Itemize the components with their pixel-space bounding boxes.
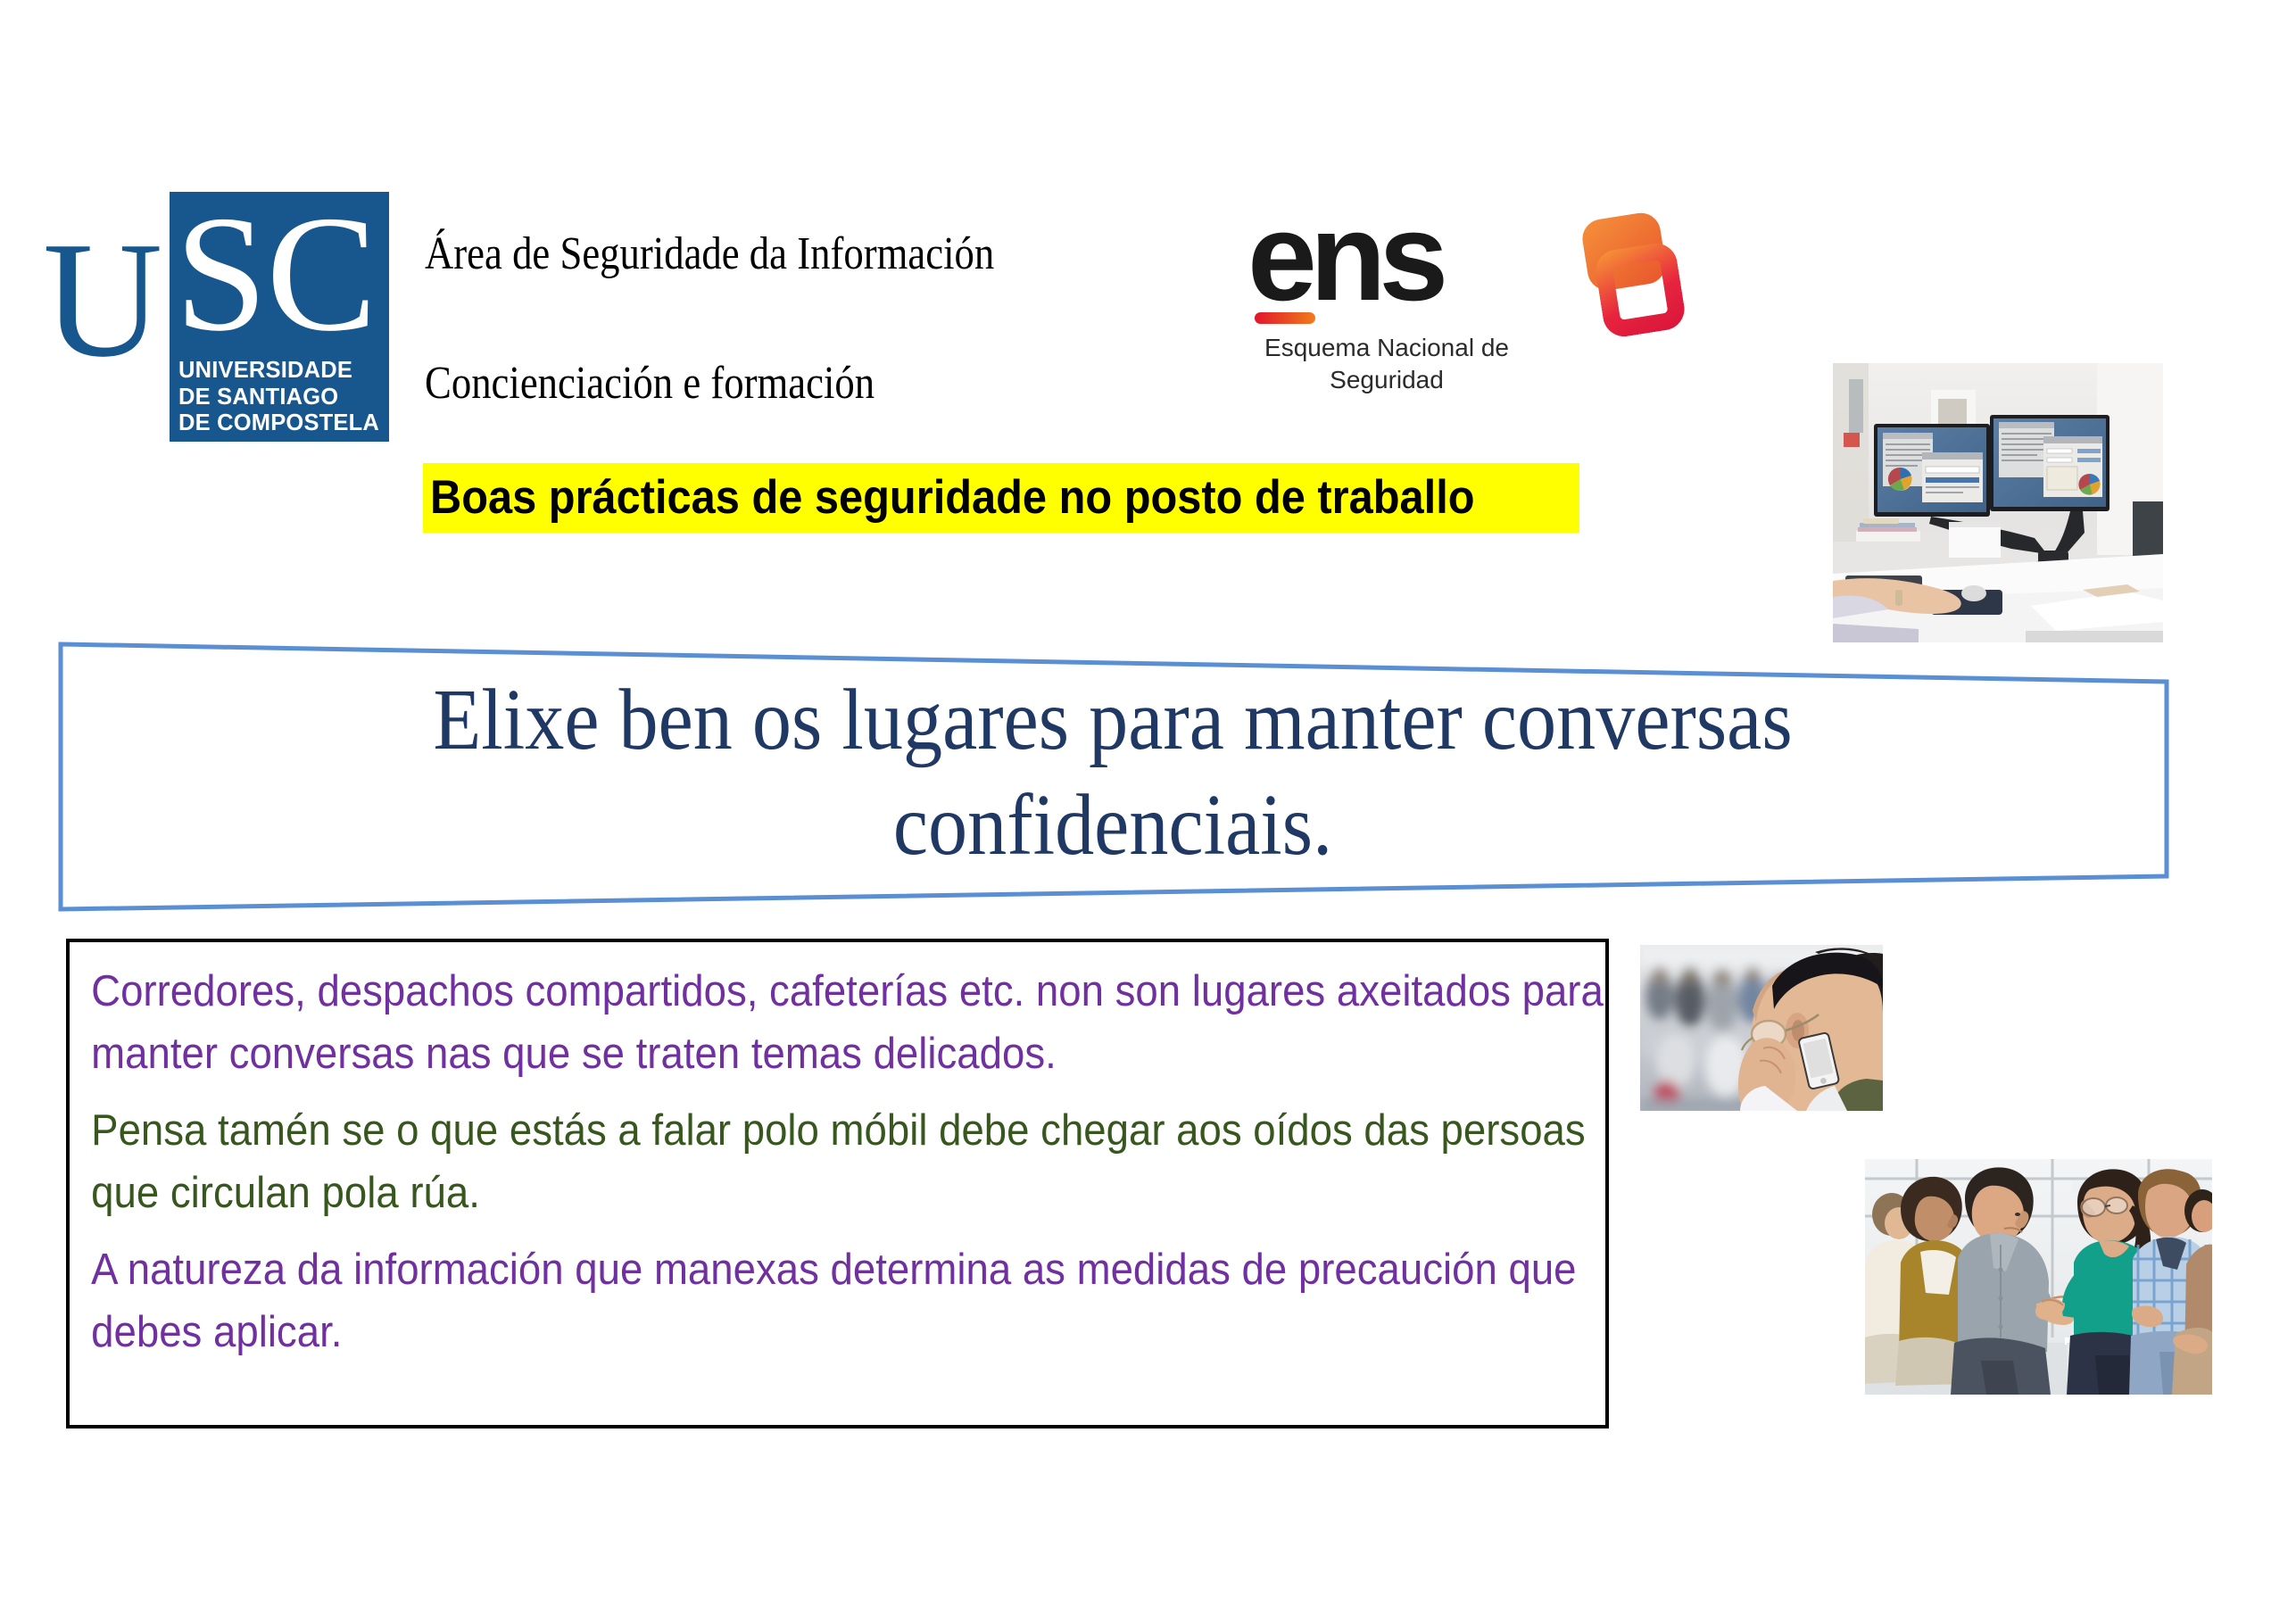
usc-logo-subtitle: UNIVERSIDADE DE SANTIAGO DE COMPOSTELA [178,358,385,437]
title-banner-text: Elixe ben os lugares para manter convers… [258,667,1969,878]
ens-logo-wordmark: ens [1247,195,1441,319]
title-banner: Elixe ben os lugares para manter convers… [55,637,2172,915]
header-line-concienciacion: Concienciación e formación [425,357,874,410]
usc-logo-letters-sc: SC [175,193,377,355]
photo-phone [1640,945,1883,1111]
photo-workstation [1833,363,2163,642]
body-text-box: Corredores, despachos compartidos, cafet… [66,939,1609,1428]
ens-logo-squares-icon [1574,216,1688,344]
body-paragraph-2: Pensa tamén se o que estás a falar polo … [70,1099,1656,1224]
ens-logo-subtitle-line-1: Esquema Nacional de [1253,332,1521,364]
header-line-area-seguridade: Área de Seguridade da Información [425,228,994,280]
slide-canvas: U SC UNIVERSIDADE DE SANTIAGO DE COMPOST… [0,0,2296,1623]
usc-logo-square: SC UNIVERSIDADE DE SANTIAGO DE COMPOSTEL… [170,192,389,442]
body-paragraph-3: A natureza da información que manexas de… [70,1238,1656,1363]
header-highlight-band: Boas prácticas de seguridade no posto de… [423,463,1579,533]
usc-logo-subtitle-line-1: UNIVERSIDADE [178,358,385,385]
usc-logo-subtitle-line-3: DE COMPOSTELA [178,410,385,437]
ens-logo-underscore-icon [1255,312,1315,324]
ens-logo-subtitle-line-2: Seguridad [1253,364,1521,396]
body-paragraph-1: Corredores, despachos compartidos, cafet… [70,960,1656,1085]
usc-logo-subtitle-line-2: DE SANTIAGO [178,385,385,411]
ens-national-security-framework-logo: ens Esquema Nacional de Seguridad [1230,207,1712,403]
ens-logo-subtitle: Esquema Nacional de Seguridad [1253,332,1521,396]
usc-logo-letter-u: U [43,221,161,379]
ens-logo-square-red [1593,240,1687,339]
header-highlight-text: Boas prácticas de seguridade no posto de… [430,469,1475,526]
usc-university-logo: U SC UNIVERSIDADE DE SANTIAGO DE COMPOST… [41,192,389,442]
photo-group [1865,1159,2212,1395]
